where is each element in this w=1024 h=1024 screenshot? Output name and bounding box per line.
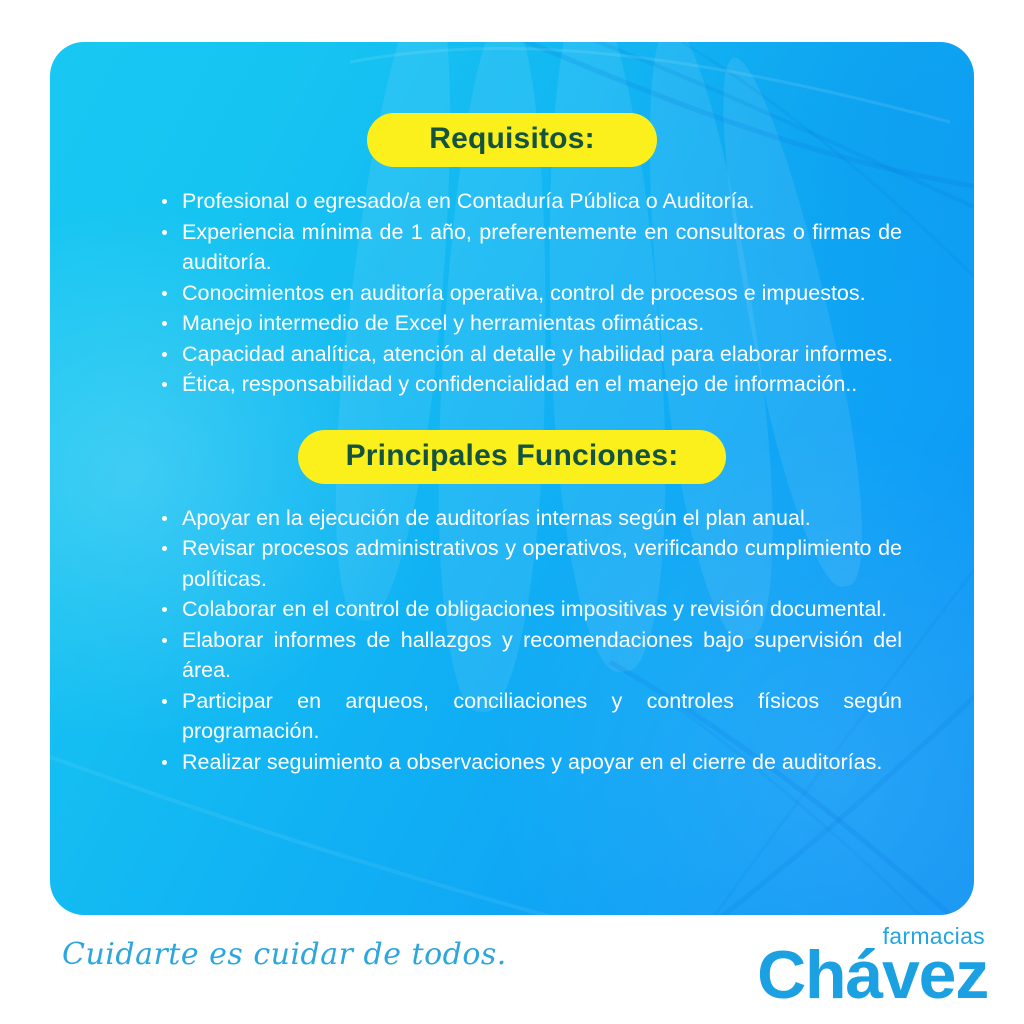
list-item-text: Conocimientos en auditoría operativa, co… [182,281,866,305]
funciones-list: Apoyar en la ejecución de auditorías int… [160,503,902,778]
footer: Cuidarte es cuidar de todos. farmacias C… [0,915,1024,1024]
section-badge-row-funciones: Principales Funciones: [50,400,974,484]
list-item: Manejo intermedio de Excel y herramienta… [160,308,902,339]
list-item-text: Ética, responsabilidad y confidencialida… [182,372,857,396]
list-item-text: Profesional o egresado/a en Contaduría P… [182,189,755,213]
list-item: Elaborar informes de hallazgos y recomen… [160,625,902,686]
list-item: Profesional o egresado/a en Contaduría P… [160,186,902,217]
list-item: Ética, responsabilidad y confidencialida… [160,369,902,400]
content-card: Requisitos: Profesional o egresado/a en … [50,42,974,915]
list-item: Realizar seguimiento a observaciones y a… [160,747,902,778]
list-item-text: Manejo intermedio de Excel y herramienta… [182,311,704,335]
list-item-text: Colaborar en el control de obligaciones … [182,597,887,621]
section-badge-requisitos: Requisitos: [367,113,657,167]
list-item-text: Experiencia mínima de 1 año, preferentem… [182,220,902,275]
list-item-text: Revisar procesos administrativos y opera… [182,536,902,591]
list-item: Revisar procesos administrativos y opera… [160,533,902,594]
brand-logo: farmacias Chávez [757,925,988,1009]
list-item-text: Apoyar en la ejecución de auditorías int… [182,506,811,530]
list-item-text: Capacidad analítica, atención al detalle… [182,342,893,366]
list-item: Participar en arqueos, conciliaciones y … [160,686,902,747]
brand-tagline: Cuidarte es cuidar de todos. [62,937,507,972]
list-item: Capacidad analítica, atención al detalle… [160,339,902,370]
section-badge-row-requisitos: Requisitos: [50,42,974,167]
list-item: Colaborar en el control de obligaciones … [160,594,902,625]
list-item-text: Realizar seguimiento a observaciones y a… [182,750,882,774]
list-item-text: Participar en arqueos, conciliaciones y … [182,689,902,744]
logo-word-chavez: Chávez [757,941,988,1009]
section-badge-principales-funciones: Principales Funciones: [298,430,727,484]
list-item-text: Elaborar informes de hallazgos y recomen… [182,628,902,683]
list-item: Conocimientos en auditoría operativa, co… [160,278,902,309]
list-item: Experiencia mínima de 1 año, preferentem… [160,217,902,278]
requisitos-list: Profesional o egresado/a en Contaduría P… [160,186,902,400]
list-item: Apoyar en la ejecución de auditorías int… [160,503,902,534]
